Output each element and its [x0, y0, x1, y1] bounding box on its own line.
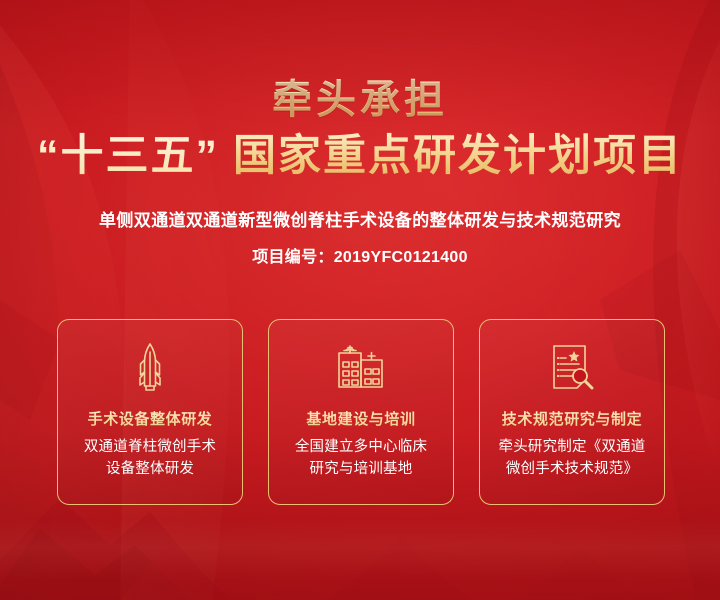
headline-block: 牵头承担 “十三五”国家重点研发计划项目: [0, 78, 720, 180]
project-code: 项目编号：2019YFC0121400: [0, 243, 720, 267]
feature-card-description: 全国建立多中心临床 研究与培训基地: [276, 437, 446, 481]
poster-banner: 牵头承担 “十三五”国家重点研发计划项目 单侧双通道双通道新型微创脊柱手术设备的…: [0, 0, 720, 600]
feature-card-description: 牵头研究制定《双通道 微创手术技术规范》: [487, 437, 657, 481]
document-search-icon: [545, 342, 599, 392]
feature-card-description-line-2: 研究与培训基地: [276, 459, 446, 481]
feature-card-title: 基地建设与培训: [306, 408, 415, 429]
feature-card-title: 手术设备整体研发: [88, 408, 213, 429]
title-line-2: “十三五”国家重点研发计划项目: [0, 133, 720, 180]
subtitle-block: 单侧双通道双通道新型微创脊柱手术设备的整体研发与技术规范研究 项目编号：2019…: [0, 210, 720, 267]
feature-card-training-base[interactable]: 基地建设与培训 全国建立多中心临床 研究与培训基地: [268, 319, 454, 505]
project-name: 单侧双通道双通道新型微创脊柱手术设备的整体研发与技术规范研究: [0, 210, 720, 232]
feature-card-description-line-2: 设备整体研发: [65, 459, 235, 481]
feature-card-description-line-1: 牵头研究制定《双通道: [487, 437, 657, 459]
feature-card-description: 双通道脊柱微创手术 设备整体研发: [65, 437, 235, 481]
feature-card-description-line-1: 全国建立多中心临床: [276, 437, 446, 459]
feature-card-description-line-2: 微创手术技术规范》: [487, 459, 657, 481]
feature-card-list: 手术设备整体研发 双通道脊柱微创手术 设备整体研发: [57, 319, 665, 505]
title-line-2-main: 国家重点研发计划项目: [233, 132, 683, 180]
background-light-sheen: [0, 520, 720, 580]
rocket-icon: [123, 342, 177, 392]
title-line-2-quoted: “十三五”: [37, 132, 219, 180]
title-line-1: 牵头承担: [0, 78, 720, 123]
feature-card-title: 技术规范研究与制定: [502, 408, 642, 429]
hospital-icon: [334, 342, 388, 392]
feature-card-rd[interactable]: 手术设备整体研发 双通道脊柱微创手术 设备整体研发: [57, 319, 243, 505]
feature-card-description-line-1: 双通道脊柱微创手术: [65, 437, 235, 459]
feature-card-standards[interactable]: 技术规范研究与制定 牵头研究制定《双通道 微创手术技术规范》: [479, 319, 665, 505]
